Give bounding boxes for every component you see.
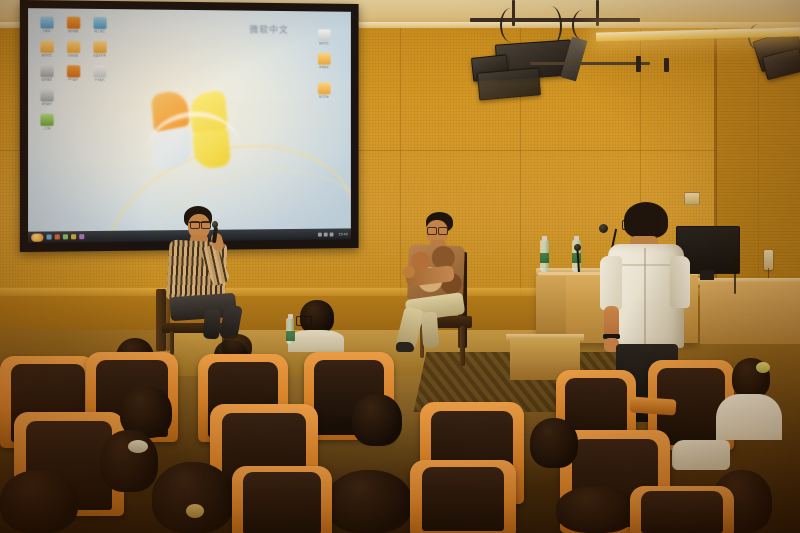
tray-icon[interactable] bbox=[324, 232, 328, 236]
glasses-lens-left bbox=[427, 227, 437, 235]
speaker-left bbox=[160, 205, 270, 345]
audience-head bbox=[100, 430, 158, 492]
seat-cushion bbox=[641, 491, 722, 533]
desktop-icon-label: 工具箱 bbox=[36, 127, 56, 130]
audience-head bbox=[152, 462, 234, 533]
desktop-icon[interactable]: 回收站 bbox=[36, 16, 56, 32]
desktop-icon-label: 我的文档 bbox=[36, 54, 56, 57]
taskbar-clock[interactable]: 15:42 bbox=[338, 231, 348, 236]
desktop-icon-label: 本地磁盘 bbox=[314, 66, 333, 69]
hair-scrunchie bbox=[756, 362, 770, 373]
hair-scrunchie bbox=[186, 504, 204, 518]
seat-cushion bbox=[243, 472, 321, 533]
quick-launch-icon[interactable] bbox=[79, 234, 84, 239]
audience-head bbox=[0, 470, 78, 533]
lecture-hall-photo: 回收站 我的电脑 网上邻居 我的文档 控制面板 bbox=[0, 0, 800, 533]
chair-leg bbox=[460, 326, 465, 366]
start-button[interactable] bbox=[31, 233, 43, 241]
desktop-icon[interactable]: 本地磁盘 bbox=[314, 53, 333, 69]
desktop-icon-label: 回收站 bbox=[36, 30, 56, 33]
audience-lap-item bbox=[672, 440, 730, 470]
audience-glasses-icon bbox=[296, 316, 312, 326]
rig-drop-rod bbox=[596, 0, 599, 26]
desktop-icon-glyph bbox=[317, 53, 330, 65]
lectern-side-panel bbox=[536, 276, 566, 340]
desktop-icon[interactable]: 网上邻居 bbox=[89, 17, 109, 33]
stage-light-left-hood bbox=[477, 67, 541, 100]
shoe bbox=[396, 342, 414, 352]
desktop-icon-glyph bbox=[66, 41, 79, 53]
seat-cushion bbox=[422, 467, 505, 532]
desktop-icon-label: 我的电脑 bbox=[63, 30, 83, 33]
desktop-icon[interactable]: 我的文档 bbox=[36, 41, 56, 57]
wall-handset[interactable] bbox=[764, 250, 773, 270]
power-cable bbox=[572, 10, 594, 40]
audience-head bbox=[530, 418, 578, 468]
bottle-label bbox=[540, 253, 549, 263]
desktop-icon-label: 报告文稿 bbox=[314, 95, 333, 98]
glasses-lens-right bbox=[201, 221, 211, 229]
auditorium-seat[interactable] bbox=[630, 486, 734, 533]
quick-launch-icon[interactable] bbox=[47, 234, 52, 239]
wallpaper-watermark: 微软中文 bbox=[249, 23, 327, 46]
desktop-icon-glyph bbox=[40, 114, 53, 126]
water-bottle[interactable] bbox=[286, 318, 294, 344]
power-cable bbox=[500, 8, 522, 42]
quick-launch-icon[interactable] bbox=[71, 234, 76, 239]
glasses-lens-left bbox=[190, 221, 200, 229]
auditorium-seat[interactable] bbox=[410, 460, 516, 533]
desktop-icon-glyph bbox=[93, 41, 106, 53]
bottle-cap bbox=[288, 314, 293, 319]
desktop-icon-label: 控制面板 bbox=[63, 54, 83, 57]
water-bottle[interactable] bbox=[540, 240, 549, 272]
audience-head bbox=[326, 470, 412, 533]
audience-head bbox=[352, 394, 402, 446]
desktop-icon[interactable]: 报告文稿 bbox=[314, 83, 333, 99]
quick-launch-icon[interactable] bbox=[63, 234, 68, 239]
monitor-cable bbox=[734, 258, 736, 294]
auditorium-seat[interactable] bbox=[232, 466, 332, 533]
bottle-label bbox=[286, 331, 295, 341]
desktop-icon-glyph bbox=[66, 65, 79, 77]
lower-leg bbox=[203, 308, 221, 339]
audience-head bbox=[556, 486, 636, 533]
speaker-right bbox=[398, 212, 508, 367]
desktop-icon-label: 媒体播放 bbox=[36, 78, 56, 81]
conduit-bracket bbox=[636, 56, 641, 72]
desktop-icon-label: PPT课件 bbox=[63, 78, 83, 81]
desktop-icon-glyph bbox=[40, 41, 53, 53]
conduit-rail bbox=[530, 62, 650, 65]
desktop-icon[interactable]: PPT课件 bbox=[63, 65, 83, 81]
desktop-icon-glyph bbox=[66, 17, 79, 29]
bottle-cap bbox=[574, 236, 579, 241]
gooseneck-mic-head bbox=[574, 244, 581, 251]
tray-icon[interactable] bbox=[318, 232, 322, 236]
quick-launch-icon[interactable] bbox=[55, 234, 60, 239]
right-sleeve bbox=[670, 256, 690, 308]
desktop-icon[interactable]: 学术报告 bbox=[89, 65, 109, 81]
windows-flag-logo bbox=[145, 85, 236, 174]
desktop-icon[interactable]: 新建文件夹 bbox=[89, 41, 109, 57]
hair-scrunchie bbox=[128, 440, 148, 453]
desktop-icon-label: 新建文件夹 bbox=[89, 54, 109, 57]
shirt-center-seam bbox=[644, 248, 646, 346]
desktop-icon[interactable]: 资料备份 bbox=[36, 89, 56, 105]
wooden-chair-back bbox=[156, 289, 166, 351]
seat-armrest bbox=[629, 396, 676, 415]
tray-icon[interactable] bbox=[330, 232, 334, 236]
desktop-icon[interactable]: 媒体播放 bbox=[36, 65, 56, 81]
desktop-icon-label: 资料备份 bbox=[36, 103, 56, 106]
khaki-lower-leg bbox=[421, 311, 439, 348]
conduit-bracket bbox=[664, 58, 669, 72]
audience-shoulders bbox=[716, 394, 782, 440]
desktop-icon-label: 学术报告 bbox=[89, 79, 109, 82]
glasses-lens-right bbox=[438, 227, 448, 235]
bottle-cap bbox=[542, 236, 547, 241]
system-tray[interactable]: 15:42 bbox=[318, 231, 348, 236]
hand bbox=[403, 266, 415, 278]
desktop-icon[interactable]: 控制面板 bbox=[63, 41, 83, 57]
desktop-icon-glyph bbox=[40, 89, 53, 101]
desktop-icon[interactable]: 我的电脑 bbox=[63, 17, 83, 33]
desktop-icon-glyph bbox=[40, 65, 53, 77]
desktop-icon-glyph bbox=[317, 83, 330, 95]
left-sleeve bbox=[600, 256, 622, 310]
glasses-icon bbox=[622, 220, 635, 230]
desktop-icon-label: 网上邻居 bbox=[89, 30, 109, 33]
desktop-icon[interactable]: 工具箱 bbox=[36, 114, 56, 130]
desktop-icon-glyph bbox=[93, 65, 106, 77]
audience-shoulders bbox=[288, 330, 344, 352]
desktop-icon-glyph bbox=[40, 16, 53, 28]
desktop-icon-glyph bbox=[93, 17, 106, 29]
